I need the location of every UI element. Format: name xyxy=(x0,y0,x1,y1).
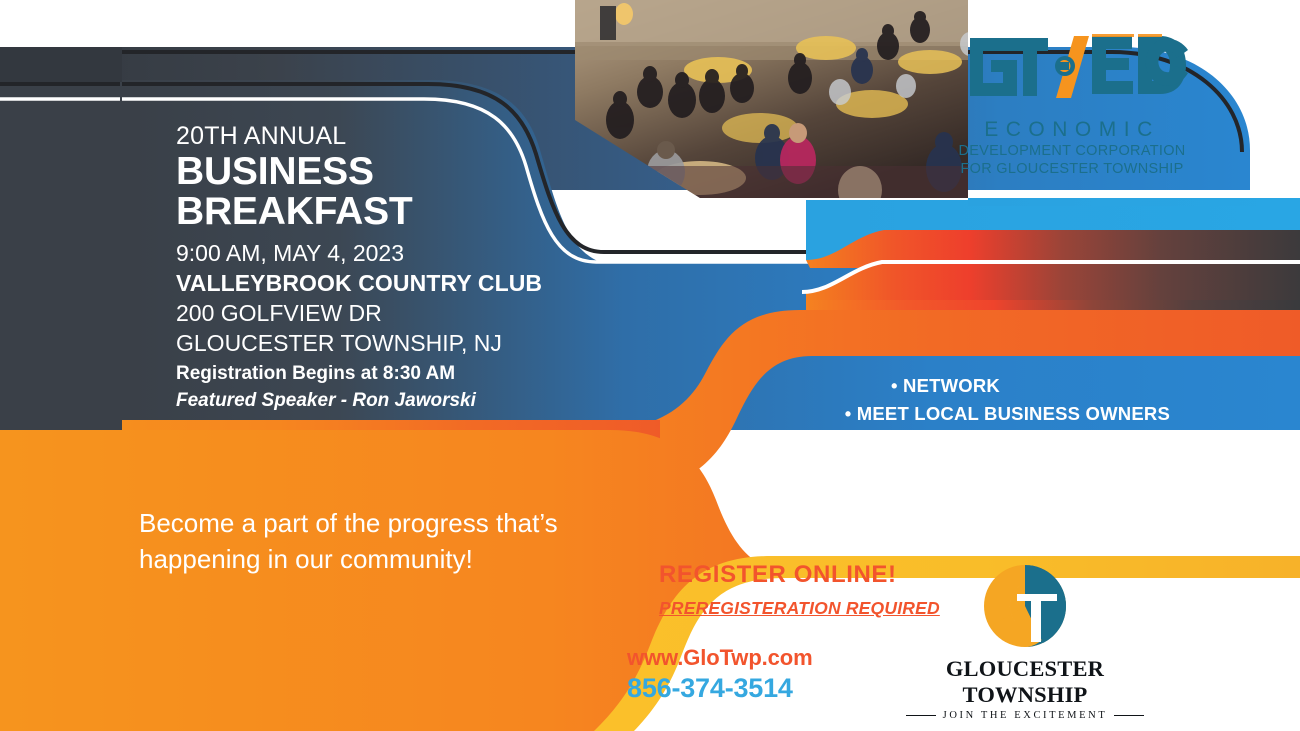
tagline-rule-left xyxy=(906,715,936,716)
gloucester-township-logo: GLOUCESTER TOWNSHIP JOIN THE EXCITEMENT xyxy=(905,562,1145,721)
event-datetime: 9:00 AM, MAY 4, 2023 xyxy=(176,238,566,268)
gtedc-subline-1: DEVELOPMENT CORPORATION xyxy=(952,142,1192,160)
benefit-item: • DISCOVER OPPORTUNITIES xyxy=(640,427,1098,455)
community-tagline: Become a part of the progress that’s hap… xyxy=(139,505,569,577)
event-title-line2: BREAKFAST xyxy=(176,192,566,232)
event-details-block: 20TH ANNUAL BUSINESS BREAKFAST 9:00 AM, … xyxy=(176,122,566,414)
gtedc-logo-mark xyxy=(952,28,1192,106)
township-logo-tagline: JOIN THE EXCITEMENT xyxy=(943,710,1108,721)
gtedc-logo: ECONOMIC DEVELOPMENT CORPORATION FOR GLO… xyxy=(952,28,1192,178)
event-venue: VALLEYBROOK COUNTRY CLUB xyxy=(176,268,566,298)
phone-number[interactable]: 856-374-3514 xyxy=(627,673,927,704)
event-address-line2: GLOUCESTER TOWNSHIP, NJ xyxy=(176,328,566,358)
event-title-line1: BUSINESS xyxy=(176,152,566,192)
website-link[interactable]: www.GloTwp.com xyxy=(627,645,927,671)
event-registration-note: Registration Begins at 8:30 AM xyxy=(176,360,566,387)
benefits-list: • NETWORK • MEET LOCAL BUSINESS OWNERS •… xyxy=(640,372,1180,482)
benefit-item: • MEET LOCAL BUSINESS OWNERS xyxy=(640,400,1170,428)
township-logo-tagline-row: JOIN THE EXCITEMENT xyxy=(905,710,1145,721)
gtedc-economic-word: ECONOMIC xyxy=(952,118,1192,142)
benefit-item: • JOIN THE EXCITEMENT! xyxy=(640,455,1050,483)
event-title: BUSINESS BREAKFAST xyxy=(176,152,566,232)
flyer-canvas: 20TH ANNUAL BUSINESS BREAKFAST 9:00 AM, … xyxy=(0,0,1300,731)
township-logo-name: GLOUCESTER TOWNSHIP xyxy=(905,656,1145,708)
event-kicker: 20TH ANNUAL xyxy=(176,122,566,151)
benefit-item: • NETWORK xyxy=(640,372,1000,400)
gloucester-township-logo-mark xyxy=(905,562,1145,647)
event-featured-speaker: Featured Speaker - Ron Jaworski xyxy=(176,387,566,414)
contact-block: www.GloTwp.com 856-374-3514 xyxy=(627,645,927,704)
event-address-line1: 200 GOLFVIEW DR xyxy=(176,298,566,328)
gtedc-subline-2: FOR GLOUCESTER TOWNSHIP xyxy=(952,160,1192,178)
tagline-rule-right xyxy=(1114,715,1144,716)
